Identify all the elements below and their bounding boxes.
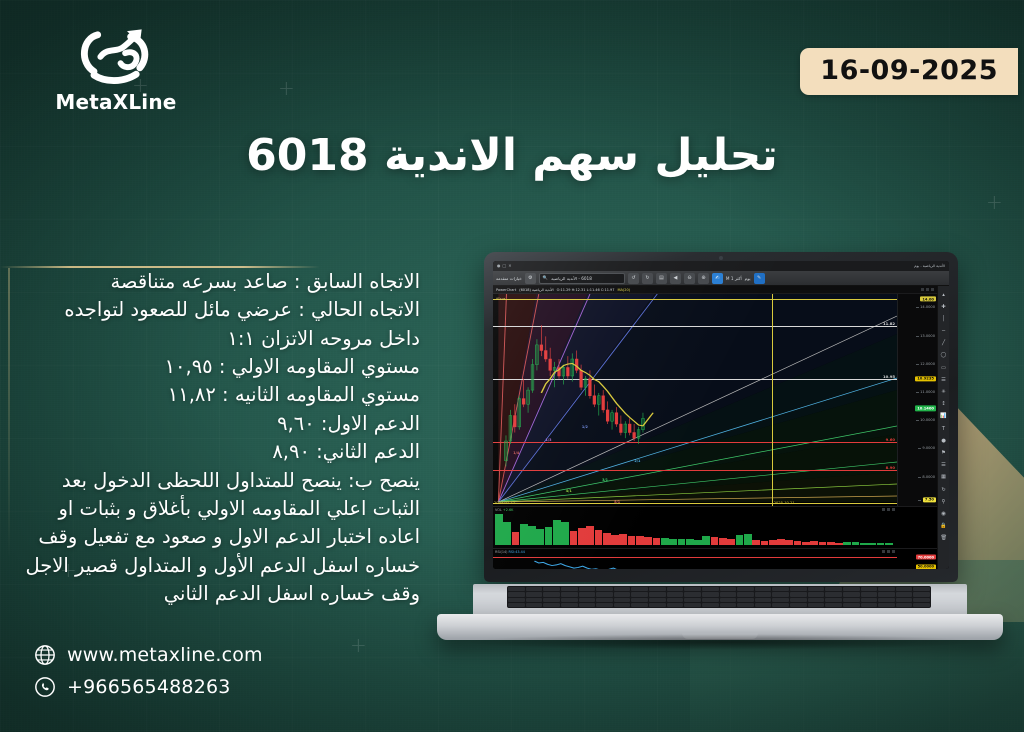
keyboard-row [508, 587, 930, 591]
keyboard-key [913, 598, 930, 602]
volume-bar [669, 539, 677, 545]
settings-sliders-icon[interactable]: ☰ [939, 461, 948, 470]
rsi-series [493, 549, 937, 569]
alert-icon[interactable]: ◀ [670, 273, 681, 284]
chart-main-column: PowerChart الأندية الرياضية (6018) O:11.… [493, 286, 937, 569]
plus-mark-icon: + [350, 635, 367, 655]
pane-minimize-icon[interactable] [921, 288, 925, 292]
keyboard-key [755, 587, 772, 591]
keyboard-row [508, 592, 930, 596]
keyboard-key [702, 598, 719, 602]
volume-bar [694, 540, 702, 545]
y-tick: 11.0000 [920, 390, 935, 394]
globe-icon [34, 644, 56, 666]
volume-bar [595, 530, 603, 545]
keyboard-key [561, 598, 578, 602]
abc-icon[interactable]: ● [939, 436, 948, 445]
price-tag-last: 10.9235 [915, 376, 936, 381]
y-tick: 8.0000 [922, 475, 935, 479]
keyboard-key [702, 587, 719, 591]
keyboard-key [737, 598, 754, 602]
keyboard-key [649, 598, 666, 602]
keyboard-key [667, 603, 684, 607]
price-tag-boundary-bottom: 7.50 [923, 497, 936, 502]
volume-bar [628, 536, 636, 545]
footer-contact: www.metaxline.com +966565488263 [34, 644, 263, 708]
pane-close-icon[interactable] [931, 288, 935, 292]
ellipse-icon[interactable]: ◯ [939, 351, 948, 360]
volume-bar [719, 538, 727, 545]
laptop-mockup: ● □ ✕ الأندية الرياضية - يوم ✎ يوم أكثر … [437, 252, 1003, 652]
volume-bar [644, 537, 652, 545]
volume-bar [769, 540, 777, 545]
keyboard-key [843, 598, 860, 602]
laptop-lid: ● □ ✕ الأندية الرياضية - يوم ✎ يوم أكثر … [484, 252, 958, 582]
cursor-icon[interactable]: ▴ [939, 290, 948, 299]
keyboard-key [843, 603, 860, 607]
analysis-line-support-1: الدعم الاول: ٩,٦٠ [22, 410, 420, 438]
chart-info-bar: PowerChart الأندية الرياضية (6018) O:11.… [493, 286, 937, 294]
footer-website-row[interactable]: www.metaxline.com [34, 644, 263, 666]
keyboard-key [579, 592, 596, 596]
app-toolbar: ✎ يوم أكثر 1 M ✍ ⊕ ⊖ ◀ ▤ ↻ ↺ 6018 - الأن… [493, 271, 949, 286]
keyboard-key [913, 592, 930, 596]
redo-icon[interactable]: ↻ [642, 273, 653, 284]
metaxline-arrow-logo-icon [70, 22, 162, 88]
keyboard-key [561, 592, 578, 596]
page-title: تحليل سهم الاندية 6018 [0, 130, 1024, 181]
rsi-tag-50: 50.0000 [916, 564, 936, 569]
close-icon[interactable]: ✕ [508, 264, 511, 268]
moving-average-line [493, 294, 897, 506]
rsi-tag-70: 70.0000 [916, 555, 936, 560]
chart-pattern-icon[interactable]: 📊 [939, 412, 948, 421]
plus-mark-icon: + [278, 78, 295, 98]
volume-value: +2.6K [503, 508, 513, 512]
plus-mark-icon: + [986, 192, 1003, 212]
fibonacci-icon[interactable]: ☰ [939, 375, 948, 384]
keyboard-key [878, 587, 895, 591]
pane-close-icon[interactable] [892, 508, 896, 512]
rsi-value: RSI:43.44 [509, 550, 525, 554]
bar-icon[interactable]: ▦ [939, 473, 948, 482]
keyboard-key [737, 603, 754, 607]
price-tag-boundary-top: 14.00 [920, 297, 936, 302]
rsi-pane[interactable]: RSI(14) RSI:43.44 [493, 548, 937, 569]
pane-minimize-icon[interactable] [882, 550, 886, 554]
volume-bar [761, 541, 769, 545]
keyboard-key [649, 592, 666, 596]
keyboard-key [579, 598, 596, 602]
keyboard-key [631, 598, 648, 602]
price-plot-area[interactable]: 11.82 10.95 9.60 8.90 [493, 294, 897, 506]
keyboard-key [790, 587, 807, 591]
keyboard-key [825, 603, 842, 607]
pane-close-icon[interactable] [892, 550, 896, 554]
analysis-text-block: الاتجاه السابق : صاعد بسرعه متناقصة الات… [22, 268, 420, 608]
keyboard-key [614, 598, 631, 602]
volume-bar [877, 543, 885, 545]
keyboard-key [755, 603, 772, 607]
whatsapp-icon [34, 676, 56, 698]
keyboard-key [896, 598, 913, 602]
volume-bar [636, 536, 644, 545]
rsi-label: RSI(14) [495, 550, 507, 554]
analysis-line-resistance-1: مستوي المقاومه الاولي : ١٠,٩٥ [22, 353, 420, 381]
magnet-icon[interactable]: ⚲ [939, 497, 948, 506]
text-icon[interactable]: T [939, 424, 948, 433]
keyboard-key [508, 598, 525, 602]
volume-bar [777, 539, 785, 545]
volume-bar [827, 542, 835, 545]
keyboard-key [684, 603, 701, 607]
keyboard-key [579, 587, 596, 591]
volume-bar [860, 543, 868, 545]
keyboard-key [878, 598, 895, 602]
ma-label: MA(20) [618, 288, 631, 292]
keyboard-key [808, 592, 825, 596]
volume-bar [686, 539, 694, 545]
laptop-shadow [461, 634, 981, 650]
keyboard-key [526, 598, 543, 602]
laptop-screen: ● □ ✕ الأندية الرياضية - يوم ✎ يوم أكثر … [493, 261, 949, 569]
keyboard-key [913, 603, 930, 607]
volume-bar [661, 538, 669, 545]
pane-settings-icon[interactable] [887, 550, 891, 554]
keyboard-key [526, 603, 543, 607]
keyboard-key [861, 587, 878, 591]
keyboard-key [861, 603, 878, 607]
gann-fan-icon[interactable]: ✳ [939, 388, 948, 397]
pane-settings-icon[interactable] [887, 508, 891, 512]
undo-icon[interactable]: ↺ [628, 273, 639, 284]
keyboard-key [667, 598, 684, 602]
keyboard-key [596, 592, 613, 596]
keyboard-key [631, 587, 648, 591]
website-label: www.metaxline.com [67, 644, 263, 666]
keyboard-key [667, 587, 684, 591]
analysis-line-fan: داخل مروحه الاتزان ١:١ [22, 325, 420, 353]
eye-icon[interactable]: ◉ [939, 509, 948, 518]
crosshair-vertical-line [772, 294, 773, 506]
keyboard-key [702, 603, 719, 607]
volume-bar [727, 539, 735, 545]
analysis-line-resistance-2: مستوي المقاومه الثانيه : ١١,٨٢ [22, 381, 420, 409]
volume-bar [619, 534, 627, 545]
y-tick: 10.0000 [920, 418, 935, 422]
volume-bar [545, 527, 553, 545]
rectangle-icon[interactable]: ▭ [939, 363, 948, 372]
zoom-out-icon[interactable]: ⊖ [684, 273, 695, 284]
webcam-icon [719, 256, 723, 260]
volume-bar [843, 542, 851, 545]
keyboard-key [737, 587, 754, 591]
keyboard-key [649, 587, 666, 591]
keyboard-key [913, 587, 930, 591]
volume-header: VOL +2.6K [495, 508, 513, 512]
analysis-recommendation: ينصح ب: ينصح للمتداول اللحظى الدخول بعد … [25, 469, 420, 605]
footer-phone-row[interactable]: +966565488263 [34, 676, 263, 698]
keyboard-key [543, 592, 560, 596]
keyboard-key [808, 587, 825, 591]
keyboard-key [720, 592, 737, 596]
decorative-left-line [8, 268, 10, 558]
keyboard-key [526, 587, 543, 591]
date-badge: 16-09-2025 [800, 48, 1018, 95]
keyboard-key [755, 592, 772, 596]
pane-controls[interactable] [921, 288, 935, 292]
period-label[interactable]: يوم [745, 276, 751, 281]
keyboard-key [772, 603, 789, 607]
keyboard-key [843, 587, 860, 591]
brand-logo: MetaXLine [36, 22, 196, 114]
volume-bar [868, 543, 876, 545]
keyboard-key [631, 592, 648, 596]
keyboard-key [667, 592, 684, 596]
volume-bar [810, 541, 818, 545]
keyboard-key [614, 592, 631, 596]
pane-minimize-icon[interactable] [882, 508, 886, 512]
maximize-icon[interactable]: □ [503, 264, 507, 268]
keyboard-key [861, 598, 878, 602]
analysis-line-prev-trend: الاتجاه السابق : صاعد بسرعه متناقصة [22, 268, 420, 296]
lock-icon[interactable]: 🔒 [939, 522, 948, 531]
volume-bar [520, 524, 528, 545]
keyboard-key [684, 592, 701, 596]
date-marker-end: 2025-10-21 [774, 501, 795, 505]
keyboard-key [508, 592, 525, 596]
keyboard-key [684, 598, 701, 602]
search-icon[interactable]: 🔍 [543, 275, 548, 281]
keyboard-key [631, 603, 648, 607]
keyboard-key [790, 603, 807, 607]
app-window-titlebar: ● □ ✕ الأندية الرياضية - يوم [493, 261, 949, 271]
keyboard-key [772, 598, 789, 602]
symbol-name: الأندية الرياضية (6018) [519, 288, 553, 292]
keyboard-row [508, 598, 930, 602]
analysis-line-support-2: الدعم الثاني: ٨,٩٠ [22, 438, 420, 466]
volume-bar [561, 522, 569, 545]
draw-icon[interactable]: ✍ [712, 273, 723, 284]
refresh-icon[interactable]: ↻ [939, 485, 948, 494]
keyboard-key [772, 592, 789, 596]
volume-bar [819, 542, 827, 545]
indicator-icon[interactable]: ▤ [656, 273, 667, 284]
zoom-in-icon[interactable]: ⊕ [698, 273, 709, 284]
volume-bar [495, 514, 503, 545]
rsi-header: RSI(14) RSI:43.44 [495, 550, 525, 554]
keyboard-key [825, 587, 842, 591]
keyboard-key [526, 592, 543, 596]
keyboard-key [508, 603, 525, 607]
window-title: الأندية الرياضية - يوم [914, 264, 945, 268]
keyboard-key [825, 598, 842, 602]
volume-bar [835, 543, 843, 545]
keyboard-key [808, 598, 825, 602]
crosshair-icon[interactable]: ✚ [939, 302, 948, 311]
vertical-line-icon[interactable]: │ [939, 314, 948, 323]
minimize-icon[interactable]: ● [497, 264, 501, 268]
keyboard-key [702, 592, 719, 596]
window-controls[interactable]: ● □ ✕ [497, 264, 512, 268]
pane-settings-icon[interactable] [926, 288, 930, 292]
chart-workspace: PowerChart الأندية الرياضية (6018) O:11.… [493, 286, 949, 569]
keyboard-key [755, 598, 772, 602]
keyboard-key [508, 587, 525, 591]
symbol-search-value: 6018 - الأندية الرياضية [551, 276, 592, 281]
keyboard-key [772, 587, 789, 591]
keyboard-key [896, 603, 913, 607]
y-tick: 9.0000 [922, 446, 935, 450]
volume-bar [528, 526, 536, 545]
keyboard-key [825, 592, 842, 596]
keyboard-key [878, 592, 895, 596]
volume-bar [785, 540, 793, 545]
advanced-options-label[interactable]: خيارات متقدمة [496, 276, 522, 281]
price-tag-bid: 10.1400 [915, 406, 936, 411]
keyboard-key [543, 587, 560, 591]
flag-icon[interactable]: ⚑ [939, 448, 948, 457]
volume-bar [711, 537, 719, 545]
volume-bar [794, 541, 802, 545]
volume-bar [702, 536, 710, 545]
keyboard-key [896, 587, 913, 591]
keyboard-key [720, 598, 737, 602]
volume-pane[interactable]: VOL +2.6K [493, 506, 937, 548]
keyboard-key [720, 603, 737, 607]
volume-pane-controls[interactable] [882, 508, 896, 512]
volume-bar [503, 522, 511, 545]
volume-bar [611, 535, 619, 545]
keyboard-key [561, 603, 578, 607]
keyboard-key [720, 587, 737, 591]
volume-bar [653, 538, 661, 545]
horizontal-line-icon[interactable]: ─ [939, 327, 948, 336]
keyboard-key [596, 603, 613, 607]
keyboard-key [737, 592, 754, 596]
drawing-tools-sidebar[interactable]: ▴ ✚ │ ─ ╱ ◯ ▭ ☰ ✳ ↕ 📊 T ● ⚑ ☰ ▦ ↻ [937, 286, 949, 569]
measure-icon[interactable]: ↕ [939, 400, 948, 409]
symbol-search-input[interactable]: 6018 - الأندية الرياضية 🔍 [539, 273, 625, 284]
keyboard-key [543, 598, 560, 602]
keyboard-key [579, 603, 596, 607]
y-tick: 13.0000 [920, 334, 935, 338]
keyboard-key [808, 603, 825, 607]
volume-bar [678, 539, 686, 545]
volume-bar [578, 528, 586, 545]
volume-bars [495, 514, 893, 545]
pencil-icon[interactable]: ✎ [754, 273, 765, 284]
keyboard-key [843, 592, 860, 596]
phone-label: +966565488263 [67, 676, 231, 698]
rsi-axis: 70.0000 50.0000 43.4452 30.0000 [897, 549, 937, 569]
keyboard-key [561, 587, 578, 591]
keyboard-key [614, 587, 631, 591]
y-tick: 14.0000 [920, 305, 935, 309]
volume-bar [603, 533, 611, 545]
keyboard-key [649, 603, 666, 607]
keyboard-key [596, 587, 613, 591]
interval-label[interactable]: أكثر 1 M [726, 276, 742, 281]
drawing-annotation: مروحة [496, 296, 505, 300]
volume-label: VOL [495, 508, 502, 512]
volume-bar [553, 520, 561, 545]
trash-icon[interactable]: 🗑 [939, 534, 948, 543]
volume-bar [802, 542, 810, 545]
volume-bar [536, 529, 544, 545]
volume-bar [885, 543, 893, 545]
trend-line-icon[interactable]: ╱ [939, 339, 948, 348]
keyboard-key [861, 592, 878, 596]
keyboard-key [684, 587, 701, 591]
keyboard-key [896, 592, 913, 596]
keyboard-key [596, 598, 613, 602]
keyboard-key [790, 592, 807, 596]
keyboard-key [543, 603, 560, 607]
volume-bar [512, 532, 520, 545]
laptop-keyboard [507, 586, 931, 608]
volume-bar [752, 540, 760, 545]
brand-name: MetaXLine [36, 90, 196, 114]
keyboard-row [508, 603, 930, 607]
analysis-line-current-trend: الاتجاه الحالي : عرضي مائل للصعود لتواجد… [22, 296, 420, 324]
price-pane[interactable]: 11.82 10.95 9.60 8.90 [493, 294, 937, 506]
price-axis[interactable]: 14.0000 13.0000 12.0000 11.0000 10.0000 … [897, 294, 937, 506]
keyboard-key [614, 603, 631, 607]
y-tick: 12.0000 [920, 362, 935, 366]
keyboard-key [790, 598, 807, 602]
keyboard-key [878, 603, 895, 607]
rsi-pane-controls[interactable] [882, 550, 896, 554]
volume-bar [744, 534, 752, 545]
volume-bar [736, 535, 744, 545]
ohlc-values: O:11.29 H:12.31 L:11.46 C:11.97 [557, 288, 615, 292]
volume-bar [586, 526, 594, 545]
date-marker-start: 2025-07-22 [494, 501, 515, 505]
volume-bar [852, 542, 860, 545]
options-icon[interactable]: ⚙ [525, 273, 536, 284]
volume-bar [570, 531, 578, 545]
study-name: PowerChart [496, 288, 516, 292]
